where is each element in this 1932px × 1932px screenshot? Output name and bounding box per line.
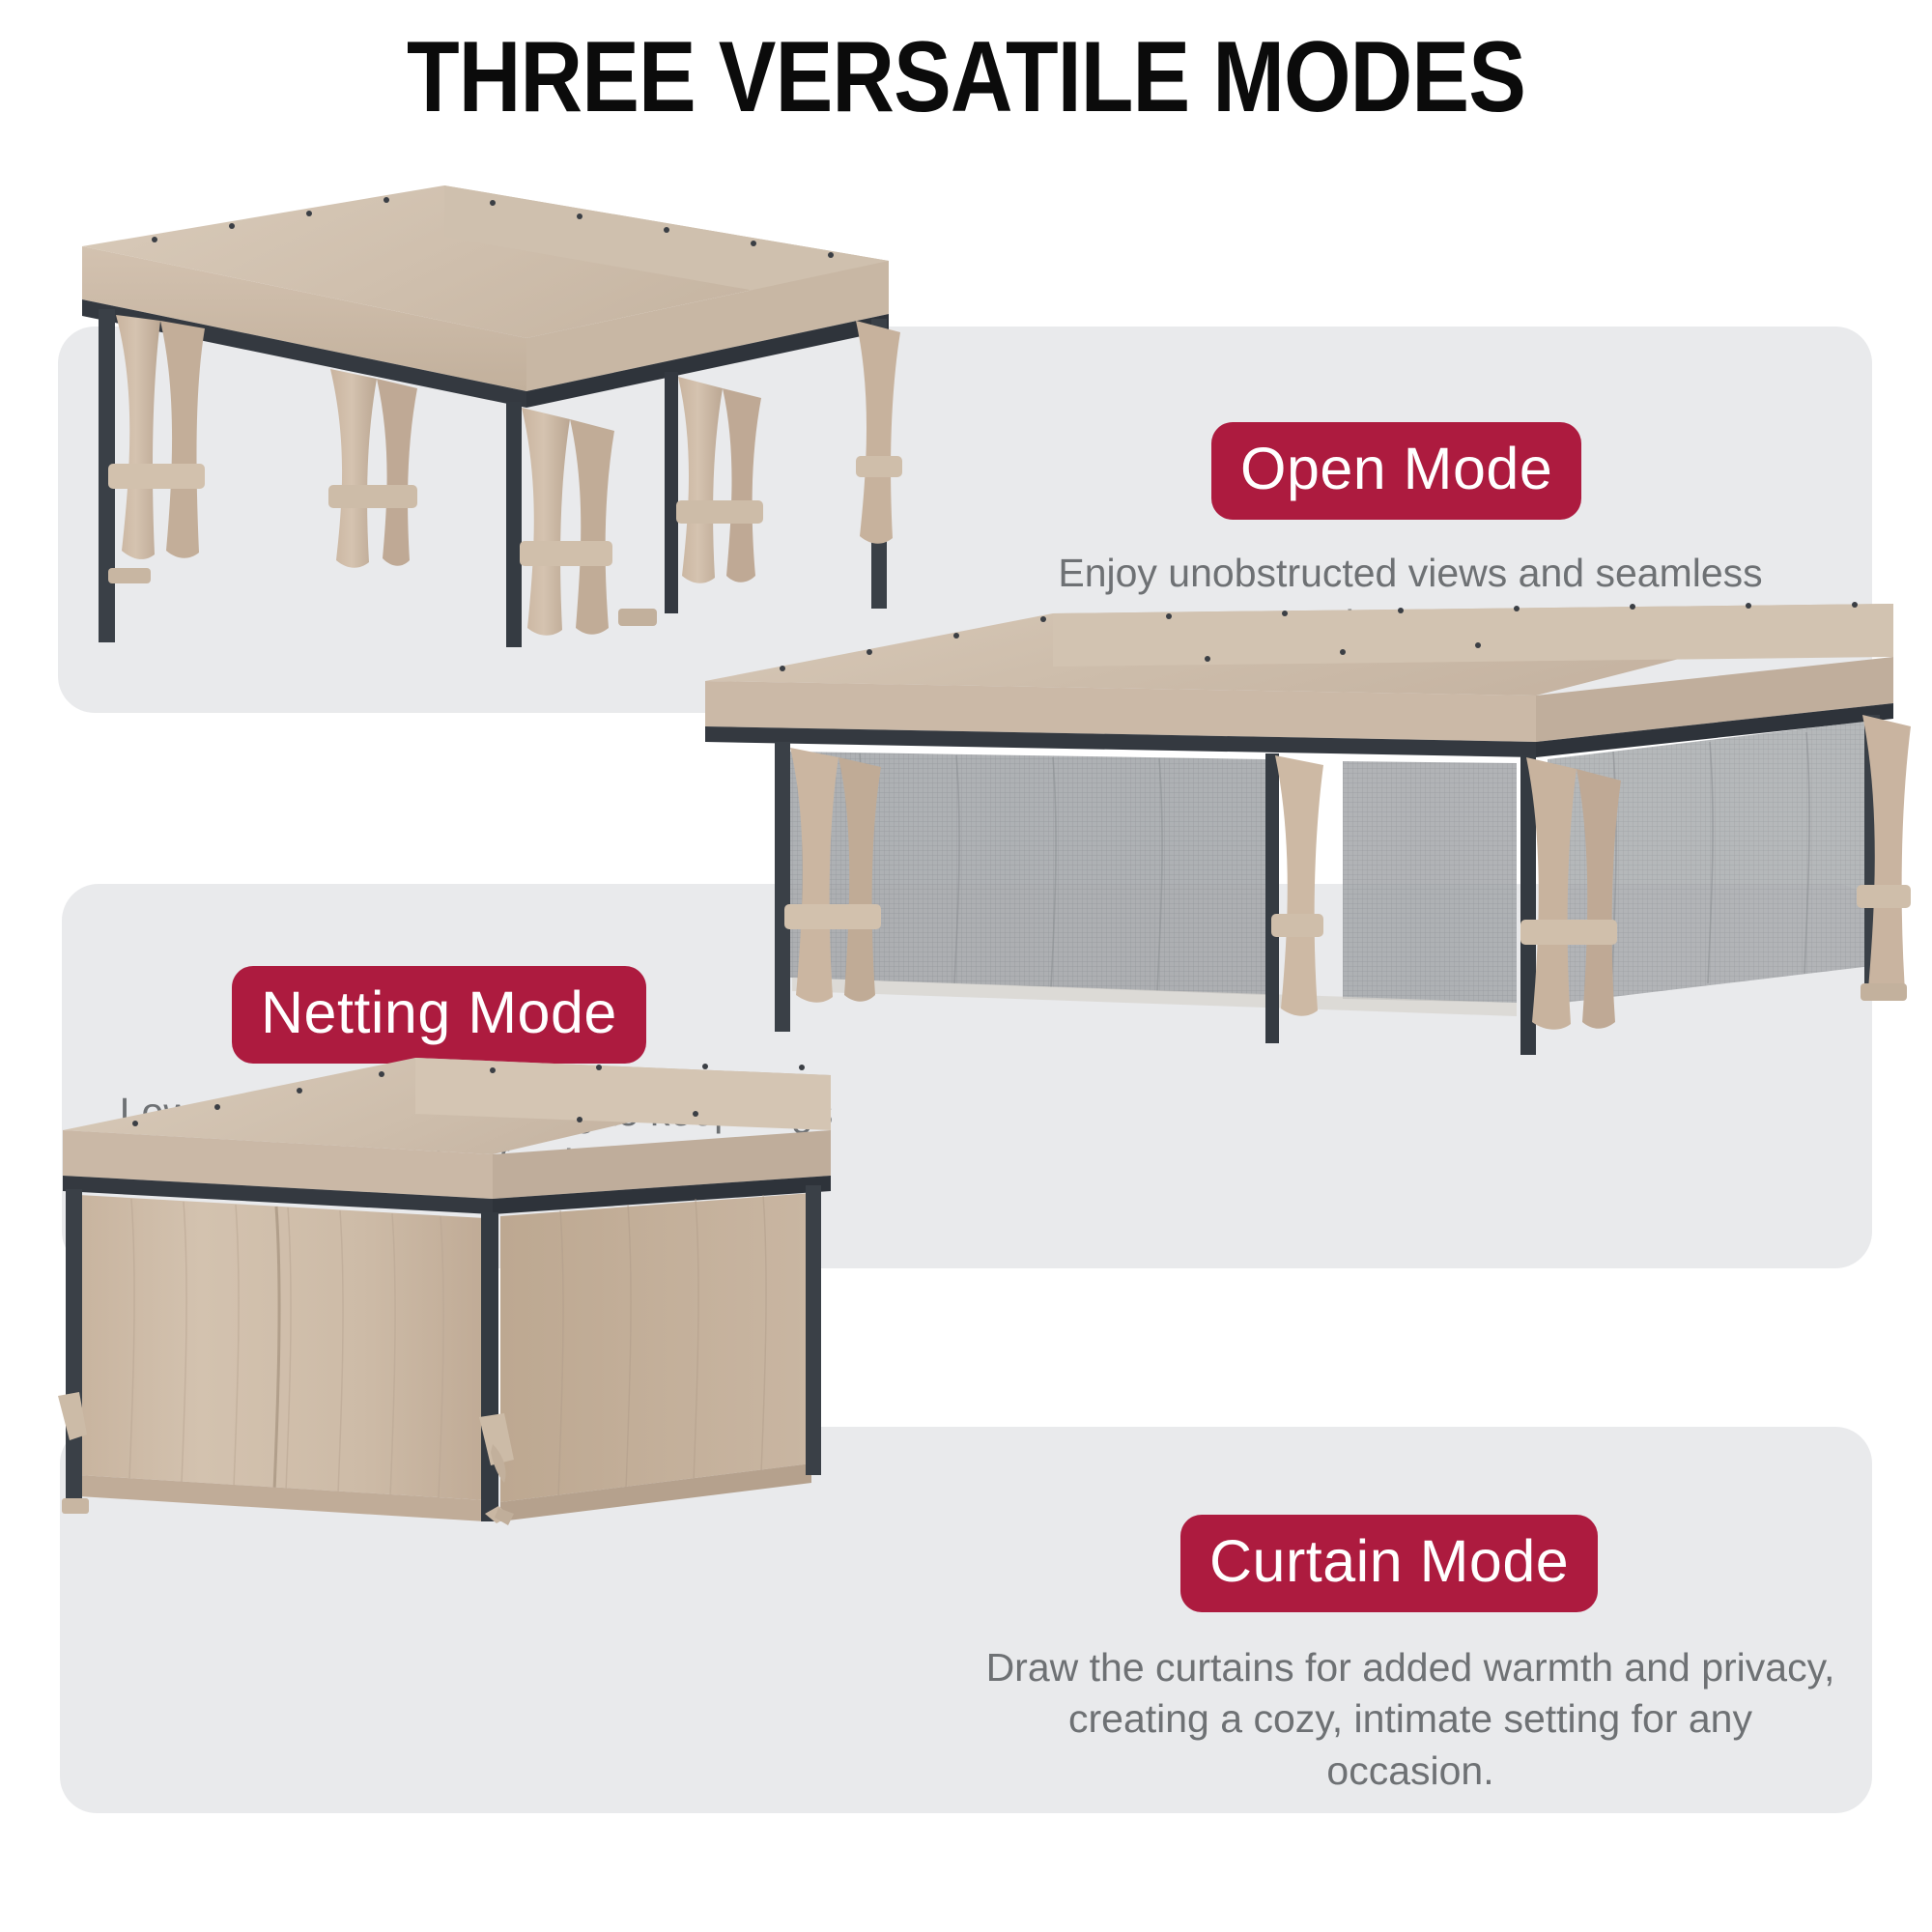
mosquito-netting-panels (790, 721, 1872, 1005)
gazebo-open-mode-image (39, 145, 908, 647)
curtain-wall-front (79, 1195, 485, 1521)
canopy-roof (63, 1058, 831, 1199)
gazebo-netting-mode-image (667, 580, 1913, 1063)
page-title: THREE VERSATILE MODES (135, 21, 1797, 133)
curtain-wall-side (500, 1193, 811, 1521)
gazebo-curtain-mode-image (39, 1038, 850, 1560)
curtain-mode-description: Draw the curtains for added warmth and p… (985, 1642, 1835, 1797)
curtain-mode-badge[interactable]: Curtain Mode (1180, 1515, 1598, 1612)
open-mode-badge[interactable]: Open Mode (1211, 422, 1581, 520)
gazebo-curtain-mode-illustration (39, 1038, 850, 1560)
canopy-roof (705, 602, 1893, 742)
gazebo-netting-mode-illustration (667, 580, 1913, 1063)
gazebo-open-mode-illustration (39, 145, 908, 647)
